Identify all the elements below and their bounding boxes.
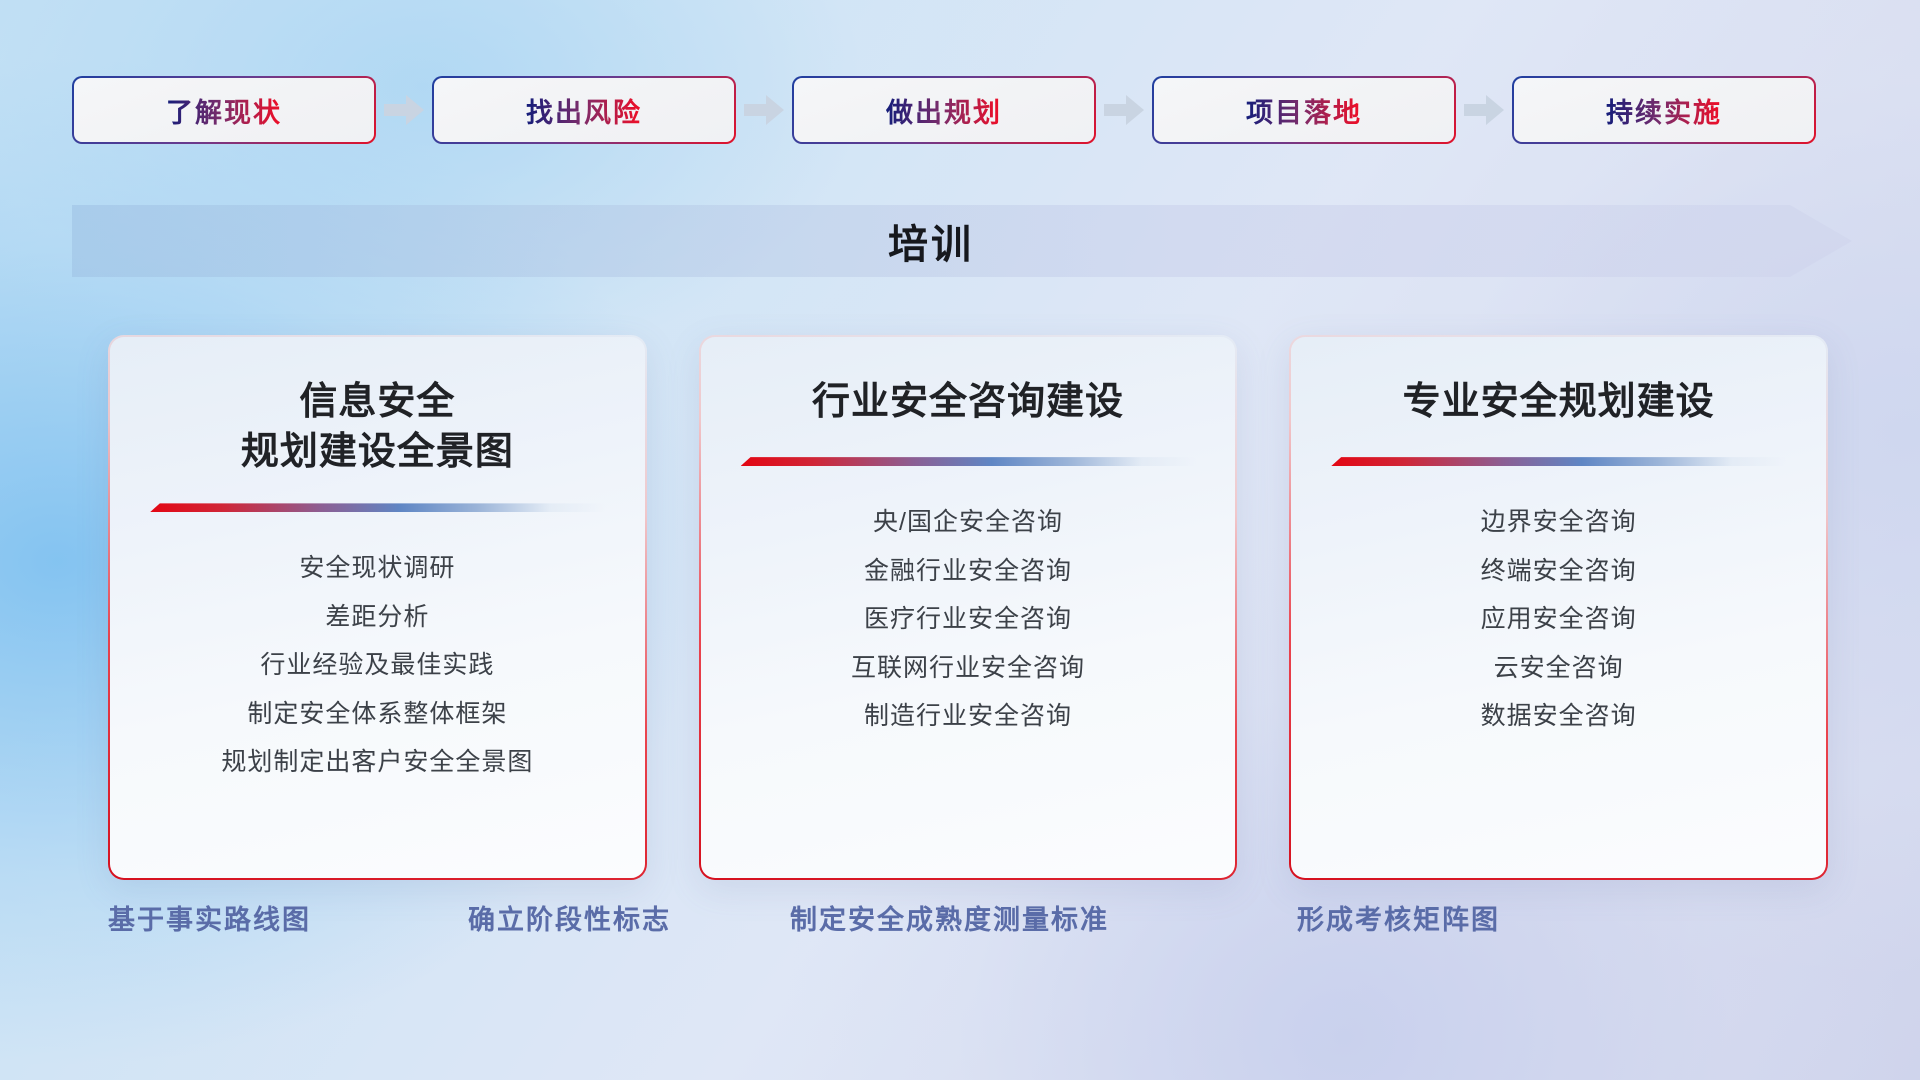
list-item: 安全现状调研	[299, 550, 455, 588]
list-item: 终端安全咨询	[1481, 553, 1637, 591]
step-button-0-label: 了解现状	[166, 91, 282, 130]
card-0-title: 信息安全 规划建设全景图	[241, 377, 514, 477]
card-0-divider	[150, 503, 605, 512]
card-group: 信息安全 规划建设全景图 安全现状调研 差距分析 行业经验及最佳实践 制定安全体…	[108, 335, 1828, 880]
card-2-inner: 专业安全规划建设 边界安全咨询 终端安全咨询 应用安全咨询 云安全咨询 数据安全…	[1291, 337, 1826, 878]
list-item: 行业经验及最佳实践	[260, 647, 494, 685]
banner-title: 培训	[72, 205, 1790, 277]
card-0[interactable]: 信息安全 规划建设全景图 安全现状调研 差距分析 行业经验及最佳实践 制定安全体…	[108, 335, 647, 880]
card-2[interactable]: 专业安全规划建设 边界安全咨询 终端安全咨询 应用安全咨询 云安全咨询 数据安全…	[1289, 335, 1828, 880]
step-button-3-inner: 项目落地	[1154, 78, 1454, 142]
right-arrow-icon	[1456, 76, 1512, 144]
list-item: 金融行业安全咨询	[864, 553, 1072, 591]
step-button-1-inner: 找出风险	[434, 78, 734, 142]
step-button-0[interactable]: 了解现状	[72, 76, 376, 144]
card-2-list: 边界安全咨询 终端安全咨询 应用安全咨询 云安全咨询 数据安全咨询	[1481, 504, 1637, 736]
step-wrap-4: 持续实施	[1512, 76, 1816, 144]
step-wrap-3: 项目落地	[1152, 76, 1512, 144]
card-0-inner: 信息安全 规划建设全景图 安全现状调研 差距分析 行业经验及最佳实践 制定安全体…	[110, 337, 645, 878]
step-button-2-label: 做出规划	[886, 91, 1002, 130]
card-1-inner: 行业安全咨询建设 央/国企安全咨询 金融行业安全咨询 医疗行业安全咨询 互联网行…	[701, 337, 1236, 878]
list-item: 央/国企安全咨询	[873, 504, 1063, 542]
step-button-1[interactable]: 找出风险	[432, 76, 736, 144]
card-1-title: 行业安全咨询建设	[812, 377, 1124, 427]
list-item: 制造行业安全咨询	[864, 698, 1072, 736]
step-button-3[interactable]: 项目落地	[1152, 76, 1456, 144]
right-arrow-icon	[376, 76, 432, 144]
right-arrow-icon	[1096, 76, 1152, 144]
step-button-3-label: 项目落地	[1246, 91, 1362, 130]
step-button-1-label: 找出风险	[526, 91, 642, 130]
step-wrap-2: 做出规划	[792, 76, 1152, 144]
list-item: 边界安全咨询	[1481, 504, 1637, 542]
step-button-4[interactable]: 持续实施	[1512, 76, 1816, 144]
card-1-list: 央/国企安全咨询 金融行业安全咨询 医疗行业安全咨询 互联网行业安全咨询 制造行…	[851, 504, 1085, 736]
process-step-bar: 了解现状 找出风险 做出规划	[72, 76, 1852, 144]
card-2-divider	[1331, 457, 1786, 466]
footer-label-3: 形成考核矩阵图	[1297, 898, 1500, 937]
step-wrap-1: 找出风险	[432, 76, 792, 144]
right-arrow-icon	[736, 76, 792, 144]
step-wrap-0: 了解现状	[72, 76, 432, 144]
footer-label-0: 基于事实路线图	[108, 898, 311, 937]
list-item: 应用安全咨询	[1481, 601, 1637, 639]
training-banner: 培训	[72, 205, 1852, 277]
footer-label-1: 确立阶段性标志	[468, 898, 671, 937]
list-item: 差距分析	[325, 599, 429, 637]
step-button-0-inner: 了解现状	[74, 78, 374, 142]
step-button-4-label: 持续实施	[1606, 91, 1722, 130]
list-item: 互联网行业安全咨询	[851, 650, 1085, 688]
card-2-title: 专业安全规划建设	[1403, 377, 1715, 427]
step-button-2-inner: 做出规划	[794, 78, 1094, 142]
list-item: 云安全咨询	[1494, 650, 1624, 688]
list-item: 数据安全咨询	[1481, 698, 1637, 736]
list-item: 规划制定出客户安全全景图	[221, 744, 533, 782]
card-1[interactable]: 行业安全咨询建设 央/国企安全咨询 金融行业安全咨询 医疗行业安全咨询 互联网行…	[699, 335, 1238, 880]
step-button-4-inner: 持续实施	[1514, 78, 1814, 142]
card-1-divider	[741, 457, 1196, 466]
step-button-2[interactable]: 做出规划	[792, 76, 1096, 144]
list-item: 制定安全体系整体框架	[247, 696, 507, 734]
list-item: 医疗行业安全咨询	[864, 601, 1072, 639]
footer-label-row: 基于事实路线图 确立阶段性标志 制定安全成熟度测量标准 形成考核矩阵图	[0, 898, 1920, 944]
footer-label-2: 制定安全成熟度测量标准	[790, 898, 1109, 937]
card-0-list: 安全现状调研 差距分析 行业经验及最佳实践 制定安全体系整体框架 规划制定出客户…	[221, 550, 533, 782]
